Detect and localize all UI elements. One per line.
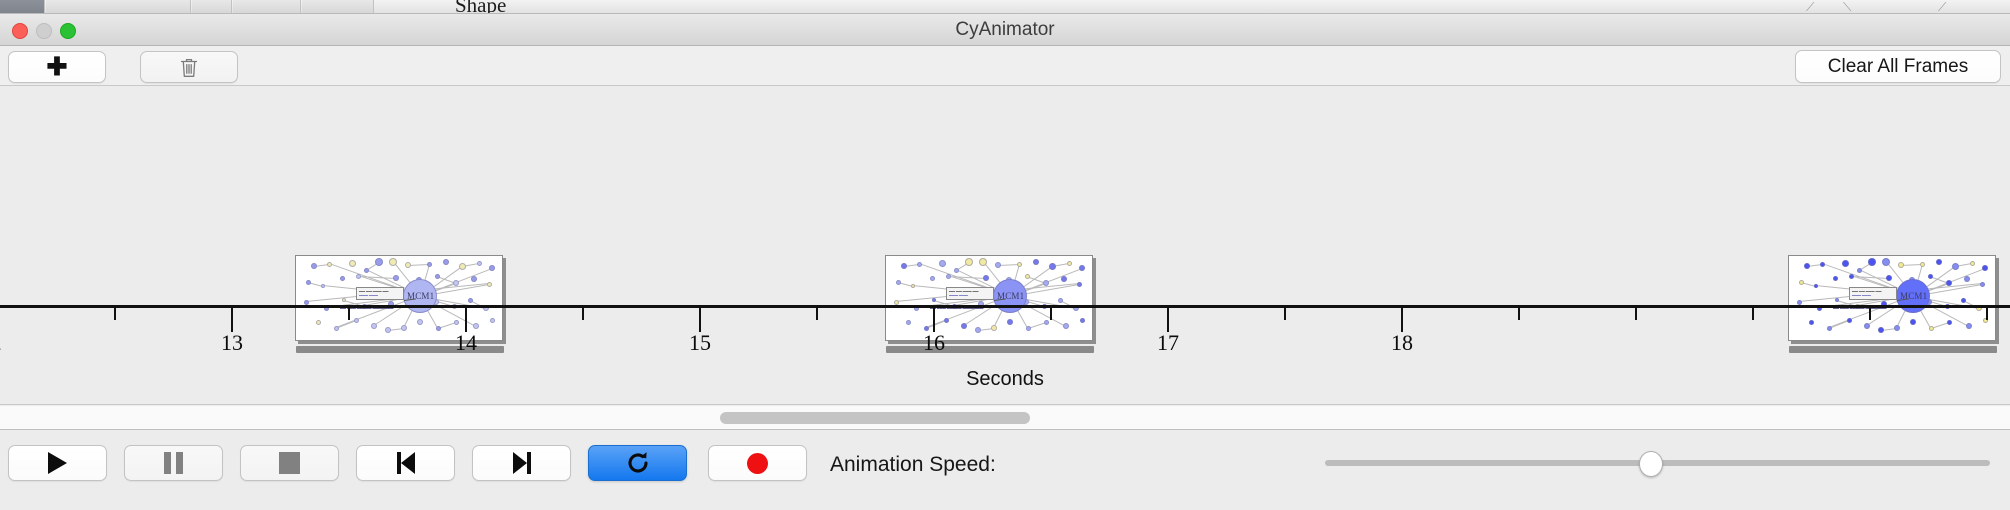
graph-node <box>1017 262 1022 267</box>
graph-node <box>1025 274 1030 279</box>
graph-node <box>1868 258 1876 266</box>
graph-node <box>1936 259 1942 265</box>
graph-node <box>477 261 482 266</box>
slider-thumb[interactable] <box>1639 451 1663 477</box>
tick-label: 2 <box>0 330 2 356</box>
tick-minor <box>1284 308 1286 320</box>
graph-node <box>1964 276 1970 282</box>
graph-node <box>304 300 309 305</box>
pause-icon <box>164 452 183 474</box>
graph-node <box>961 323 967 329</box>
graph-node <box>364 268 369 273</box>
graph-node <box>1929 326 1934 331</box>
axis-title: Seconds <box>0 368 2010 391</box>
graph-node <box>1928 274 1933 279</box>
loop-icon <box>625 450 651 476</box>
graph-node <box>1849 274 1854 279</box>
graph-node <box>401 325 407 331</box>
background-window-strip: Shape ⟋ ⟍ ⟋ <box>0 0 2010 14</box>
graph-node <box>1827 326 1832 331</box>
graph-edge <box>998 264 1019 266</box>
timeline-panel[interactable]: MCM1▬▬ ▬▬ ▬▬▬ ▬▬▬▬▬ ▬▬▬▬▬ ▬▬▬ ▬▬▬▬▬ ▬▬▬▬… <box>0 87 2010 405</box>
graph-node <box>1058 298 1063 303</box>
graph-node <box>995 262 1001 268</box>
tick-major <box>465 308 467 332</box>
graph-node <box>1864 323 1870 329</box>
graph-node <box>356 274 361 279</box>
graph-node <box>1882 258 1890 266</box>
frame-timeline-marker[interactable] <box>1789 346 1997 353</box>
timeline-frame-thumbnail[interactable]: MCM1▬▬ ▬▬ ▬▬▬ ▬▬▬▬▬ ▬▬▬▬▬ ▬▬▬ ▬▬▬▬▬ ▬▬▬▬… <box>885 255 1093 341</box>
skip-start-button[interactable] <box>356 445 455 481</box>
animation-speed-label: Animation Speed: <box>830 453 996 477</box>
graph-node <box>1033 259 1039 265</box>
window-title: CyAnimator <box>0 14 2010 46</box>
delete-frame-button[interactable] <box>140 51 238 83</box>
tick-label: 16 <box>923 330 945 356</box>
graph-node <box>1961 298 1966 303</box>
graph-node <box>316 320 321 325</box>
skip-forward-icon <box>513 452 531 474</box>
graph-node <box>1970 261 1975 266</box>
bg-tab <box>302 0 374 14</box>
graph-node <box>991 325 997 331</box>
graph-node <box>443 259 449 265</box>
add-frame-button[interactable]: ✚ <box>8 51 106 83</box>
tick-minor <box>1635 308 1637 320</box>
graph-node <box>334 326 339 331</box>
graph-node <box>375 258 383 266</box>
graph-node <box>459 263 466 270</box>
graph-node <box>1847 318 1852 323</box>
graph-node <box>911 284 915 288</box>
graph-edge <box>408 264 429 266</box>
graph-node <box>1080 318 1085 323</box>
graph-node <box>1910 319 1916 325</box>
skip-back-icon <box>397 452 415 474</box>
graph-node <box>917 262 922 267</box>
timeline-scrollbar[interactable] <box>0 406 2010 430</box>
graph-node <box>354 318 359 323</box>
clear-all-frames-label: Clear All Frames <box>1828 56 1968 78</box>
graph-node <box>385 327 391 333</box>
graph-node <box>1063 323 1069 329</box>
graph-node <box>371 323 377 329</box>
timeline-axis <box>0 305 2010 308</box>
record-button[interactable] <box>708 445 807 481</box>
plus-icon: ✚ <box>47 55 68 80</box>
graph-node <box>1809 320 1814 325</box>
tick-major <box>1401 308 1403 332</box>
graph-node <box>1835 298 1839 302</box>
graph-node <box>1980 282 1985 287</box>
graph-node <box>946 274 951 279</box>
graph-node <box>1982 265 1988 271</box>
graph-node <box>1952 263 1959 270</box>
graph-node <box>405 262 411 268</box>
play-icon <box>48 452 67 474</box>
graph-node <box>896 280 901 285</box>
graph-node <box>327 262 332 267</box>
pause-button[interactable] <box>124 445 223 481</box>
stop-button[interactable] <box>240 445 339 481</box>
graph-node <box>417 319 423 325</box>
graph-node <box>901 263 907 269</box>
graph-node <box>1894 325 1900 331</box>
graph-annotation-box: ▬▬ ▬▬ ▬▬▬ ▬▬▬▬▬ ▬▬▬ <box>946 287 994 300</box>
loop-button[interactable] <box>588 445 687 481</box>
graph-node <box>1049 263 1056 270</box>
graph-node <box>1799 280 1804 285</box>
graph-node <box>1043 280 1049 286</box>
graph-node <box>471 276 477 282</box>
tick-minor <box>114 308 116 320</box>
tick-label: 15 <box>689 330 711 356</box>
graph-node <box>975 327 981 333</box>
bg-sort-arrow-icon: ⟋ <box>1806 1 1819 14</box>
graph-node <box>1804 263 1810 269</box>
graph-node <box>1044 320 1049 325</box>
timeline-frame-thumbnail[interactable]: MCM1▬▬ ▬▬ ▬▬▬ ▬▬▬▬▬ ▬▬▬▬▬ ▬▬▬ ▬▬▬▬▬ ▬▬▬▬… <box>295 255 503 341</box>
title-bar: CyAnimator <box>0 14 2010 46</box>
graph-node <box>321 284 325 288</box>
tick-major <box>1167 308 1169 332</box>
bg-tab <box>46 0 191 14</box>
graph-node <box>939 260 946 267</box>
graph-node <box>306 280 311 285</box>
graph-node <box>894 300 899 305</box>
graph-node <box>1079 265 1085 271</box>
graph-node <box>1067 261 1072 266</box>
graph-node <box>1820 262 1825 267</box>
frame-timeline-marker[interactable] <box>886 346 1094 353</box>
clear-all-frames-button[interactable]: Clear All Frames <box>1795 50 2001 83</box>
tick-minor <box>1752 308 1754 320</box>
tick-minor <box>582 308 584 320</box>
network-graph-preview: MCM1▬▬ ▬▬ ▬▬▬ ▬▬▬▬▬ ▬▬▬▬▬ ▬▬▬ ▬▬▬▬▬ ▬▬▬▬… <box>1789 256 1995 340</box>
tick-minor <box>816 308 818 320</box>
graph-node <box>954 268 959 273</box>
network-graph-preview: MCM1▬▬ ▬▬ ▬▬▬ ▬▬▬▬▬ ▬▬▬▬▬ ▬▬▬ ▬▬▬▬▬ ▬▬▬▬… <box>886 256 1092 340</box>
graph-node <box>487 282 492 287</box>
graph-node <box>1026 326 1031 331</box>
frames-layer: MCM1▬▬ ▬▬ ▬▬▬ ▬▬▬▬▬ ▬▬▬▬▬ ▬▬▬ ▬▬▬▬▬ ▬▬▬▬… <box>0 87 2010 307</box>
graph-node <box>1878 327 1884 333</box>
graph-node <box>1007 319 1013 325</box>
graph-node <box>1947 320 1952 325</box>
tick-label: 17 <box>1157 330 1179 356</box>
graph-node <box>1898 262 1904 268</box>
tick-major <box>231 308 233 332</box>
graph-node <box>393 275 399 281</box>
graph-node <box>427 262 432 267</box>
graph-node <box>979 258 987 266</box>
cyanimator-window: Shape ⟋ ⟍ ⟋ CyAnimator ✚ Clear All Frame… <box>0 0 2010 510</box>
graph-node <box>490 318 495 323</box>
graph-node <box>468 298 473 303</box>
graph-node <box>965 258 973 266</box>
tick-label: 18 <box>1391 330 1413 356</box>
tick-minor <box>1050 308 1052 320</box>
graph-node <box>932 298 936 302</box>
toolbar: ✚ Clear All Frames <box>0 46 2010 86</box>
graph-node <box>1797 300 1802 305</box>
graph-node <box>1814 284 1818 288</box>
tick-minor <box>1869 308 1871 320</box>
graph-node <box>389 258 397 266</box>
graph-node <box>1920 262 1925 267</box>
graph-node <box>944 318 949 323</box>
bg-sort-arrow-icon: ⟋ <box>1938 1 1951 14</box>
graph-node <box>1842 260 1849 267</box>
tick-minor <box>1518 308 1520 320</box>
graph-node <box>906 320 911 325</box>
graph-annotation-box: ▬▬ ▬▬ ▬▬▬ ▬▬▬▬▬ ▬▬▬ <box>1849 287 1897 300</box>
graph-node <box>1886 275 1892 281</box>
graph-node <box>454 320 459 325</box>
graph-node <box>1857 268 1862 273</box>
tick-label: 14 <box>455 330 477 356</box>
background-window-label: Shape <box>455 0 506 14</box>
graph-node <box>340 276 345 281</box>
graph-node <box>1077 282 1082 287</box>
trash-icon <box>180 57 198 78</box>
network-graph-preview: MCM1▬▬ ▬▬ ▬▬▬ ▬▬▬▬▬ ▬▬▬▬▬ ▬▬▬ ▬▬▬▬▬ ▬▬▬▬… <box>296 256 502 340</box>
tick-major <box>699 308 701 332</box>
graph-node <box>489 265 495 271</box>
bg-tab <box>192 0 232 14</box>
graph-edge <box>1901 264 1922 266</box>
tick-minor <box>1986 308 1988 320</box>
tick-minor <box>348 308 350 320</box>
play-button[interactable] <box>8 445 107 481</box>
graph-node <box>1061 276 1067 282</box>
graph-node <box>435 274 440 279</box>
player-controls-bar: Animation Speed: <box>0 431 2010 510</box>
graph-annotation-box: ▬▬ ▬▬ ▬▬▬ ▬▬▬▬▬ ▬▬▬ <box>356 287 404 300</box>
bg-tab <box>0 0 45 14</box>
graph-node <box>436 326 441 331</box>
scrollbar-thumb[interactable] <box>720 412 1030 424</box>
bg-tab <box>233 0 301 14</box>
graph-node <box>473 323 479 329</box>
graph-node <box>349 260 356 267</box>
timeline-frame-thumbnail[interactable]: MCM1▬▬ ▬▬ ▬▬▬ ▬▬▬▬▬ ▬▬▬▬▬ ▬▬▬ ▬▬▬▬▬ ▬▬▬▬… <box>1788 255 1996 341</box>
bg-sort-arrow-icon: ⟍ <box>1843 1 1856 14</box>
graph-node <box>311 263 317 269</box>
tick-major <box>933 308 935 332</box>
graph-node <box>453 280 459 286</box>
graph-node <box>930 276 935 281</box>
graph-node <box>1833 276 1838 281</box>
record-icon <box>747 453 768 474</box>
tick-label: 13 <box>221 330 243 356</box>
graph-node <box>1966 323 1972 329</box>
skip-end-button[interactable] <box>472 445 571 481</box>
animation-speed-slider[interactable] <box>1325 451 1990 475</box>
stop-icon <box>279 452 300 474</box>
graph-node <box>342 298 346 302</box>
graph-node <box>1946 280 1952 286</box>
graph-node <box>983 275 989 281</box>
